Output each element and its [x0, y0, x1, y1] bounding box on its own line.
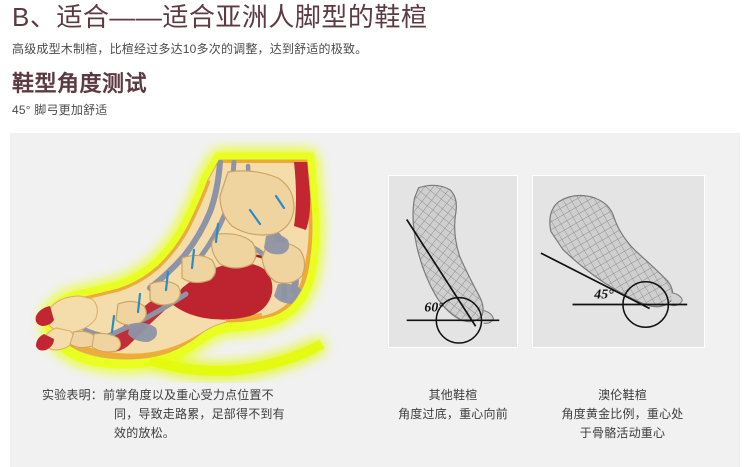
foot-anatomy-figure [22, 138, 367, 383]
caption-line-2: 同，导致走路累，足部得不到有 [42, 405, 342, 424]
caption-other-line-1: 角度过底，重心向前 [378, 405, 528, 424]
foot-anatomy-icon [22, 138, 367, 383]
section-subtitle: 45° 脚弓更加舒适 [12, 101, 738, 119]
caption-brand-line-2: 于骨骼活动重心 [540, 424, 705, 443]
shoe-last-60-icon: 60° [389, 176, 517, 347]
caption-line-1: 前掌角度以及重心受力点位置不 [103, 388, 274, 402]
caption-foot-anatomy: 实验表明：前掌角度以及重心受力点位置不 同，导致走路累，足部得不到有 效的放松。 [42, 386, 342, 443]
angle-label-60: 60° [424, 299, 444, 314]
caption-lead: 实验表明： [42, 388, 103, 402]
caption-title-brand: 澳伦鞋楦 [540, 386, 705, 405]
page-subtitle: 高级成型木制楦，比楦经过多达10多次的调整，达到舒适的极致。 [12, 40, 738, 58]
angle-panel-45: 45° [532, 175, 705, 348]
angle-panel-60: 60° [388, 175, 518, 348]
caption-other-last: 其他鞋楦 角度过底，重心向前 [378, 386, 528, 424]
caption-line-3: 效的放松。 [42, 424, 342, 443]
shoe-last-45-icon: 45° [533, 176, 704, 347]
content-panel: 60° [10, 133, 740, 467]
header-block: B、适合——适合亚洲人脚型的鞋楦 高级成型木制楦，比楦经过多达10多次的调整，达… [12, 0, 738, 119]
caption-title-other: 其他鞋楦 [378, 386, 528, 405]
page-title: B、适合——适合亚洲人脚型的鞋楦 [12, 0, 738, 34]
angle-label-45: 45° [593, 287, 614, 302]
caption-brand-line-1: 角度黄金比例，重心处 [540, 405, 705, 424]
section-title: 鞋型角度测试 [12, 70, 738, 98]
caption-brand-last: 澳伦鞋楦 角度黄金比例，重心处 于骨骼活动重心 [540, 386, 705, 443]
achilles-muscle [294, 162, 310, 230]
product-detail-page: B、适合——适合亚洲人脚型的鞋楦 高级成型木制楦，比楦经过多达10多次的调整，达… [0, 0, 750, 467]
